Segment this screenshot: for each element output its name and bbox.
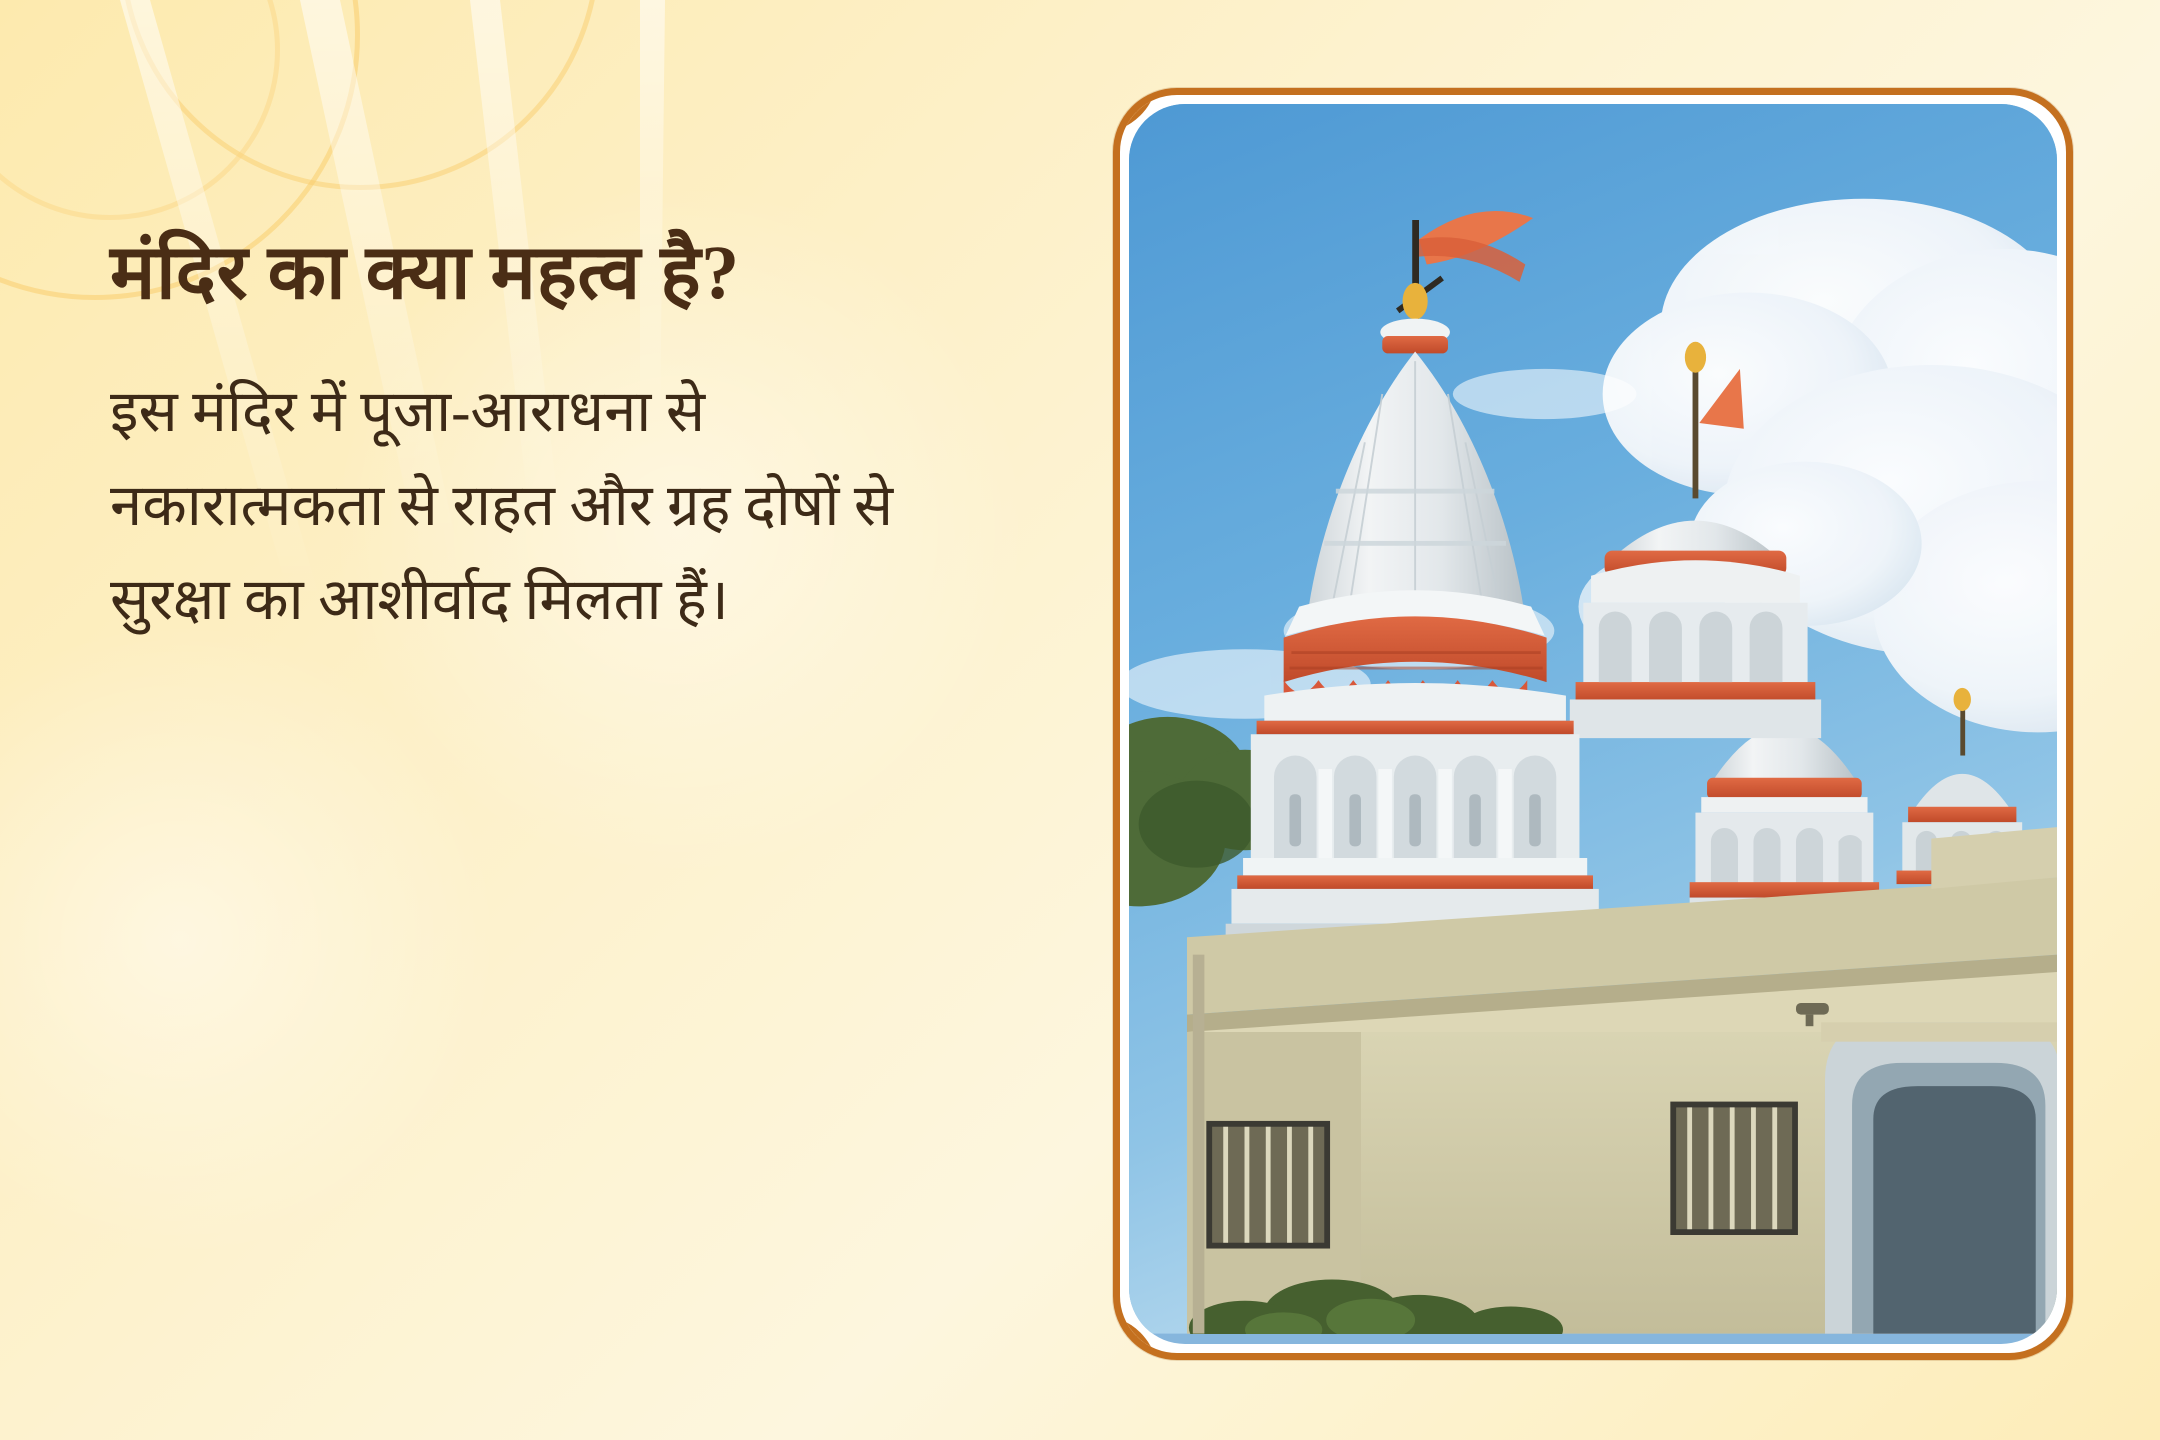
text-column: मंदिर का क्या महत्व है? इस मंदिर में पूज… (110, 230, 990, 647)
temple-photo (1129, 104, 2057, 1344)
poster-canvas: मंदिर का क्या महत्व है? इस मंदिर में पूज… (0, 0, 2160, 1440)
temple-illustration (1129, 104, 2057, 1334)
page-title: मंदिर का क्या महत्व है? (110, 230, 990, 317)
decorative-ring-middle (120, 0, 600, 190)
decorative-glow-lower (0, 620, 500, 1260)
body-paragraph: इस मंदिर में पूजा-आराधना से नकारात्मकता … (110, 365, 930, 647)
decorative-ring-inner (0, 0, 280, 220)
temple-photo-frame (1113, 88, 2073, 1360)
